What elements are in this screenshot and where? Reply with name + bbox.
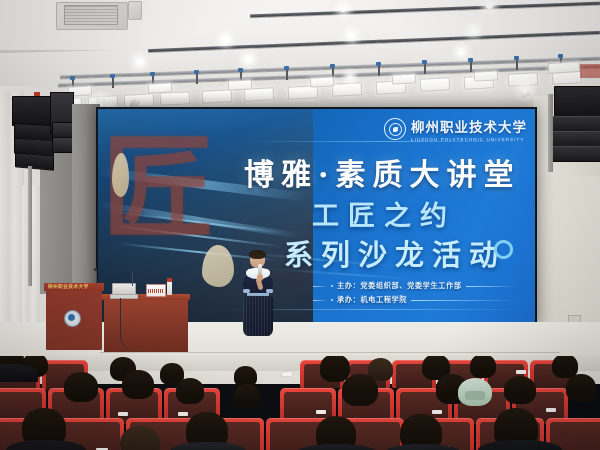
speaker-hand bbox=[257, 274, 263, 281]
credit-organizer: 主办：党委组织部、党委学生工作部 bbox=[337, 281, 462, 291]
credit-host: 承办：机电工程学院 bbox=[337, 295, 407, 305]
seat-number-tag bbox=[316, 410, 326, 414]
podium-school-emblem-icon bbox=[64, 310, 81, 327]
screen-credits: 主办：党委组织部、党委学生工作部 承办：机电工程学院 bbox=[313, 281, 518, 309]
seat-number-tag bbox=[432, 410, 442, 414]
screen-logo-underline bbox=[248, 141, 527, 142]
screen-title-line-3: 系列沙龙活动 bbox=[284, 232, 506, 274]
university-seal-icon bbox=[384, 118, 406, 140]
water-bottle-cap bbox=[167, 278, 172, 282]
podium-mic-stand bbox=[96, 270, 97, 286]
auditorium-photo: 匠 柳州职业技术大学 LIUZHOU POLYTECHNIC UNIVERSIT… bbox=[0, 0, 600, 450]
university-logo: 柳州职业技术大学 LIUZHOU POLYTECHNIC UNIVERSITY bbox=[384, 116, 527, 142]
ceiling-downlight bbox=[486, 2, 493, 9]
name-card bbox=[146, 284, 166, 297]
ceiling-downlight bbox=[136, 58, 143, 65]
ceiling-downlight bbox=[222, 36, 229, 43]
seat-number-tag bbox=[282, 372, 292, 376]
stage-table bbox=[104, 298, 188, 352]
screen-title-line-1: 博雅·素质大讲堂 bbox=[244, 150, 520, 194]
right-red-accent bbox=[580, 64, 600, 78]
seat-number-tag bbox=[178, 412, 188, 416]
university-name-cn: 柳州职业技术大学 bbox=[411, 116, 527, 136]
seat-number-tag bbox=[516, 370, 526, 374]
ceiling-downlight bbox=[470, 27, 477, 34]
podium-mic-head-icon bbox=[94, 268, 97, 271]
screen-ring-decor-icon bbox=[494, 240, 513, 259]
audience-cap bbox=[458, 378, 492, 406]
ceiling-downlight bbox=[245, 56, 252, 63]
credit-row: 主办：党委组织部、党委学生工作部 bbox=[313, 281, 518, 291]
screen-title-line-2: 工匠之约 bbox=[312, 194, 456, 233]
ac-vent-side bbox=[128, 1, 142, 20]
credit-row: 承办：机电工程学院 bbox=[313, 295, 518, 305]
ceiling-downlight bbox=[458, 48, 465, 55]
seat-number-tag bbox=[118, 412, 128, 416]
speaker-hair bbox=[249, 250, 266, 259]
audience-area bbox=[0, 356, 600, 450]
water-bottle bbox=[167, 281, 172, 295]
table-cable bbox=[120, 298, 137, 352]
table-mic-stand bbox=[132, 272, 133, 286]
speaker-person bbox=[238, 251, 278, 337]
stage-floor-line bbox=[100, 352, 560, 353]
podium-engraved-text: 柳州职业技术大学 bbox=[48, 284, 89, 290]
ceiling-downlight bbox=[348, 32, 355, 39]
ac-vent-grille-icon bbox=[64, 5, 118, 25]
speaker-skirt-pleats bbox=[243, 296, 273, 336]
screen-teardrop-shape bbox=[112, 153, 129, 197]
screen-teardrop-shape-2 bbox=[202, 245, 234, 287]
seat-number-tag bbox=[546, 408, 556, 412]
ceiling-downlight bbox=[340, 5, 347, 12]
